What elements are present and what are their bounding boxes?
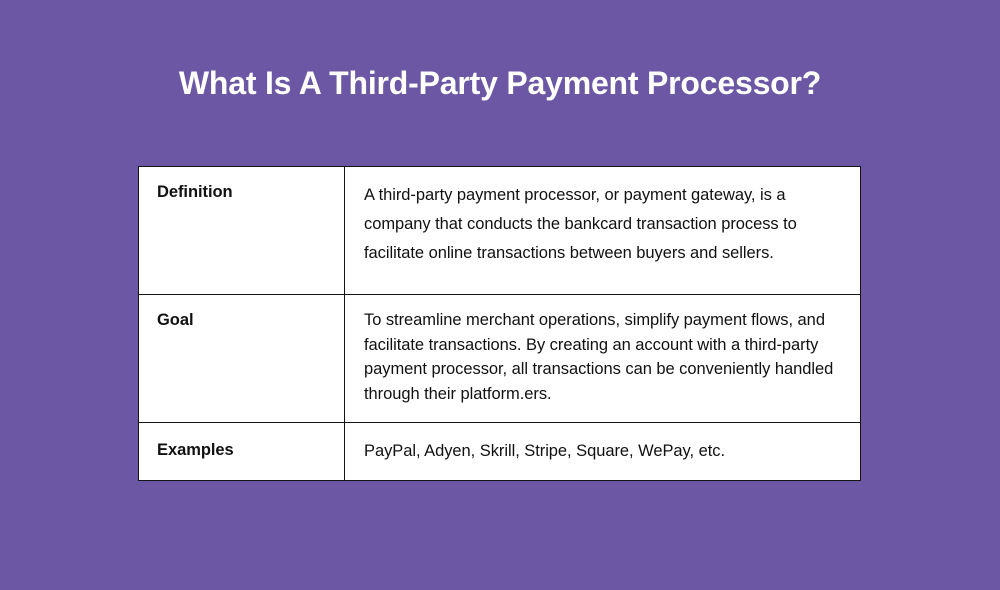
row-label-examples: Examples	[139, 423, 345, 481]
table-body: Definition A third-party payment process…	[139, 167, 861, 481]
table-row: Goal To streamline merchant operations, …	[139, 295, 861, 423]
table-row: Examples PayPal, Adyen, Skrill, Stripe, …	[139, 423, 861, 481]
row-body-examples: PayPal, Adyen, Skrill, Stripe, Square, W…	[345, 423, 861, 481]
definition-table-container: Definition A third-party payment process…	[138, 166, 861, 481]
page-title: What Is A Third-Party Payment Processor?	[0, 63, 1000, 103]
definition-table: Definition A third-party payment process…	[138, 166, 861, 481]
row-label-goal: Goal	[139, 295, 345, 423]
row-body-goal: To streamline merchant operations, simpl…	[345, 295, 861, 423]
row-body-definition: A third-party payment processor, or paym…	[345, 167, 861, 295]
infographic-card: What Is A Third-Party Payment Processor?…	[0, 0, 1000, 590]
table-row: Definition A third-party payment process…	[139, 167, 861, 295]
row-label-definition: Definition	[139, 167, 345, 295]
